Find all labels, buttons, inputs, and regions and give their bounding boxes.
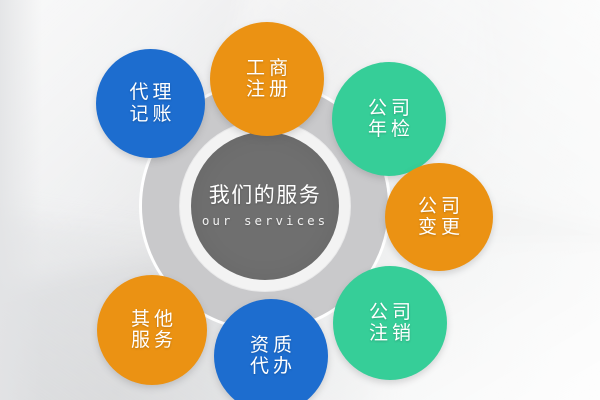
service-node-label-line1: 其他 xyxy=(127,309,177,330)
service-node-company-change[interactable]: 公司变更 xyxy=(385,163,493,271)
service-node-label-line2: 注销 xyxy=(365,323,415,344)
service-node-company-annual-inspection[interactable]: 公司年检 xyxy=(332,62,446,176)
service-node-label-line2: 变更 xyxy=(414,217,464,238)
service-node-label-line2: 服务 xyxy=(127,330,177,351)
service-node-label-line1: 资质 xyxy=(246,335,296,356)
service-node-label-line2: 年检 xyxy=(364,119,414,140)
service-node-label-line1: 公司 xyxy=(414,196,464,217)
service-node-label-line1: 代理 xyxy=(125,82,175,103)
service-node-label-line2: 注册 xyxy=(242,79,292,100)
service-node-label-line1: 公司 xyxy=(364,98,414,119)
service-node-label-line2: 代办 xyxy=(246,356,296,377)
service-node-label-line1: 公司 xyxy=(365,302,415,323)
service-node-business-registration[interactable]: 工商注册 xyxy=(210,22,324,136)
background-left-edge xyxy=(0,0,42,400)
service-node-label-line2: 记账 xyxy=(125,104,175,125)
center-title-zh: 我们的服务 xyxy=(209,184,322,207)
service-node-label-line1: 工商 xyxy=(242,58,292,79)
service-node-other-services[interactable]: 其他服务 xyxy=(97,275,207,385)
center-hub: 我们的服务 our services xyxy=(191,132,339,280)
service-node-agency-bookkeeping[interactable]: 代理记账 xyxy=(96,49,205,158)
service-wheel-infographic: 我们的服务 our services 代理记账工商注册公司年检公司变更公司注销资… xyxy=(0,0,600,400)
service-node-company-deregistration[interactable]: 公司注销 xyxy=(333,266,447,380)
center-title-en: our services xyxy=(202,213,328,228)
